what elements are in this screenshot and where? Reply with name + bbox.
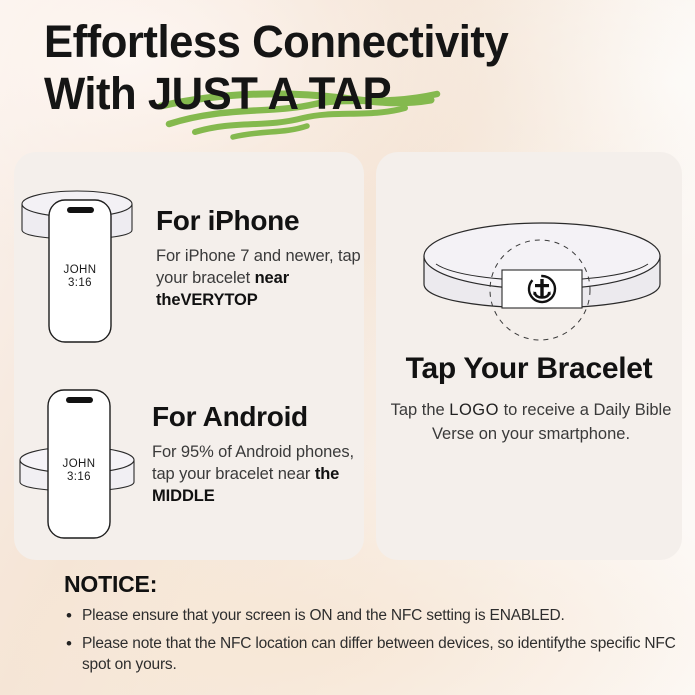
iphone-body: For iPhone 7 and newer, tap your bracele… <box>156 245 378 311</box>
title-line-1: Effortless Connectivity <box>44 16 645 68</box>
phone-screen-line-2: 3:16 <box>48 471 110 484</box>
android-body: For 95% of Android phones, tap your brac… <box>152 441 374 507</box>
title-block: Effortless Connectivity With JUST A TAP <box>44 16 664 120</box>
phone-screen-line-1: JOHN <box>48 458 110 471</box>
bullet-icon: • <box>64 633 82 654</box>
bullet-icon: • <box>64 605 82 626</box>
phone-screen-line-2: 3:16 <box>49 277 111 290</box>
notice-item-text: Please note that the NFC location can di… <box>82 633 676 675</box>
infographic-poster: Effortless Connectivity With JUST A TAP <box>0 0 695 695</box>
title-line-2: With JUST A TAP <box>44 68 645 120</box>
section-android: JOHN 3:16 For Android For 95% of Android… <box>10 378 374 550</box>
notice-item: • Please ensure that your screen is ON a… <box>64 605 676 626</box>
right-panel-heading: Tap Your Bracelet <box>376 352 682 386</box>
right-body-logo-word: LOGO <box>449 401 499 419</box>
section-iphone: JOHN 3:16 For iPhone For iPhone 7 and ne… <box>14 182 378 354</box>
iphone-illustration: JOHN 3:16 <box>14 182 156 354</box>
right-panel-body: Tap the LOGO to receive a Daily Bible Ve… <box>386 398 676 446</box>
notice-title: NOTICE: <box>64 570 676 598</box>
bracelet-illustration <box>418 212 666 352</box>
android-heading: For Android <box>152 402 374 432</box>
notice-item: • Please note that the NFC location can … <box>64 633 676 675</box>
phone-screen-line-1: JOHN <box>49 264 111 277</box>
notice-item-text: Please ensure that your screen is ON and… <box>82 605 565 626</box>
iphone-copy: For iPhone For iPhone 7 and newer, tap y… <box>156 182 378 311</box>
notice-section: NOTICE: • Please ensure that your screen… <box>64 570 676 675</box>
iphone-heading: For iPhone <box>156 206 378 236</box>
right-body-before: Tap the <box>391 401 450 419</box>
android-copy: For Android For 95% of Android phones, t… <box>152 378 374 507</box>
android-illustration: JOHN 3:16 <box>10 378 152 550</box>
